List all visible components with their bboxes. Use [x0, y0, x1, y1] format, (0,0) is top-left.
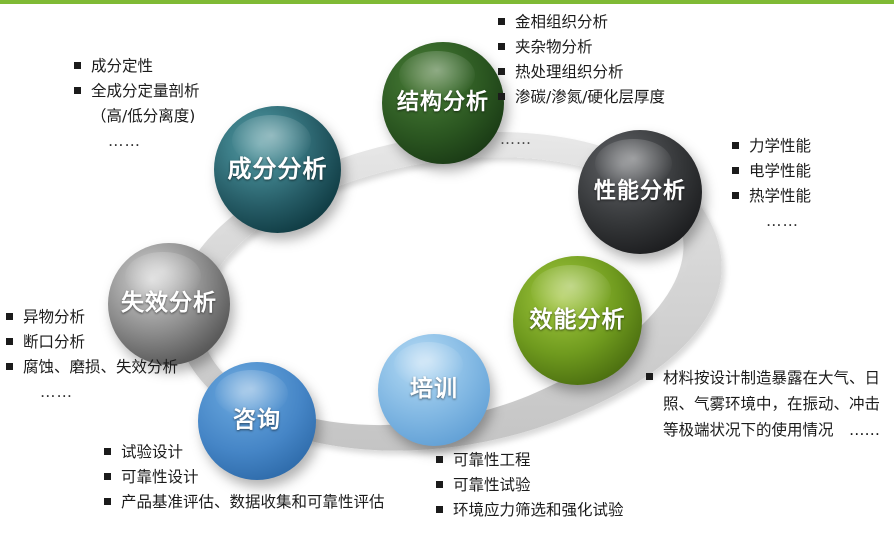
bullet-text: 可靠性设计 — [121, 468, 199, 486]
bullet-list-xiaoneng: 材料按设计制造暴露在大气、日照、气雾环境中，在振动、冲击等极端状况下的使用情况 … — [646, 365, 886, 443]
ellipsis: …… — [74, 129, 200, 154]
bullet-text: 可靠性工程 — [453, 451, 531, 469]
bullet-list-peixun: 可靠性工程 可靠性试验 环境应力筛选和强化试验 — [436, 448, 624, 523]
sphere-chengfen-fenxi[interactable]: 成分分析 — [214, 106, 341, 233]
list-item: 热学性能 — [732, 184, 811, 209]
list-item: 腐蚀、磨损、失效分析 — [6, 355, 178, 380]
bullet-text: 全成分定量剖析 — [91, 82, 200, 100]
list-item: 全成分定量剖析 — [74, 79, 200, 104]
bullet-text: 成分定性 — [91, 57, 153, 75]
list-item: 夹杂物分析 — [498, 35, 665, 60]
sphere-label: 培训 — [410, 377, 458, 402]
list-item: 可靠性设计 — [104, 465, 434, 490]
sphere-label: 效能分析 — [530, 308, 626, 333]
list-item: 异物分析 — [6, 305, 178, 330]
list-item: 渗碳/渗氮/硬化层厚度 — [498, 85, 665, 110]
list-item: 试验设计 — [104, 440, 434, 465]
ellipsis-jiegou: …… — [500, 130, 532, 148]
bullet-list-shixiao: 异物分析 断口分析 腐蚀、磨损、失效分析 …… — [6, 305, 178, 405]
list-item: 可靠性试验 — [436, 473, 624, 498]
bullet-list-zixun: 试验设计 可靠性设计 产品基准评估、数据收集和可靠性评估 — [104, 440, 434, 515]
bullet-text: 异物分析 — [23, 308, 85, 326]
sphere-xiaoneng-fenxi[interactable]: 效能分析 — [513, 256, 642, 385]
list-item: 热处理组织分析 — [498, 60, 665, 85]
sphere-label: 性能分析 — [594, 180, 686, 204]
bullet-text: 产品基准评估、数据收集和可靠性评估 — [121, 493, 385, 511]
sphere-jiegou-fenxi[interactable]: 结构分析 — [382, 42, 504, 164]
slide-canvas: 成分分析 结构分析 性能分析 效能分析 培训 咨询 失效分析 成分定性 全成分定… — [0, 0, 894, 553]
list-item: 材料按设计制造暴露在大气、日照、气雾环境中，在振动、冲击等极端状况下的使用情况 … — [646, 365, 886, 443]
bullet-text: 可靠性试验 — [453, 476, 531, 494]
bullet-text: 腐蚀、磨损、失效分析 — [23, 358, 178, 376]
bullet-text: 力学性能 — [749, 137, 811, 155]
bullet-text: 热学性能 — [749, 187, 811, 205]
bullet-continuation: （高/低分离度) — [74, 104, 200, 129]
bullet-text: 渗碳/渗氮/硬化层厚度 — [515, 88, 665, 106]
list-item: 电学性能 — [732, 159, 811, 184]
sphere-label: 成分分析 — [228, 156, 328, 182]
bullet-list-chengfen: 成分定性 全成分定量剖析 （高/低分离度) …… — [74, 54, 200, 154]
top-accent-bar — [0, 0, 894, 4]
list-item: 断口分析 — [6, 330, 178, 355]
bullet-text: 断口分析 — [23, 333, 85, 351]
bullet-list-xingneng: 力学性能 电学性能 热学性能 …… — [732, 134, 811, 234]
list-item: 可靠性工程 — [436, 448, 624, 473]
bullet-text: 材料按设计制造暴露在大气、日照、气雾环境中，在振动、冲击等极端状况下的使用情况 … — [663, 369, 880, 439]
list-item: 产品基准评估、数据收集和可靠性评估 — [104, 490, 434, 515]
list-item: 成分定性 — [74, 54, 200, 79]
bullet-text: 金相组织分析 — [515, 13, 608, 31]
sphere-label: 咨询 — [233, 408, 281, 433]
list-item: 力学性能 — [732, 134, 811, 159]
bullet-text: 电学性能 — [749, 162, 811, 180]
list-item: 环境应力筛选和强化试验 — [436, 498, 624, 523]
sphere-peixun[interactable]: 培训 — [378, 334, 490, 446]
sphere-xingneng-fenxi[interactable]: 性能分析 — [578, 130, 702, 254]
sphere-label: 结构分析 — [397, 91, 489, 115]
bullet-text: 夹杂物分析 — [515, 38, 593, 56]
bullet-text: 环境应力筛选和强化试验 — [453, 501, 624, 519]
bullet-list-jiegou: 金相组织分析 夹杂物分析 热处理组织分析 渗碳/渗氮/硬化层厚度 — [498, 10, 665, 110]
bullet-text: 试验设计 — [121, 443, 183, 461]
list-item: 金相组织分析 — [498, 10, 665, 35]
bullet-text: 热处理组织分析 — [515, 63, 624, 81]
ellipsis: …… — [6, 380, 178, 405]
ellipsis: …… — [732, 209, 811, 234]
